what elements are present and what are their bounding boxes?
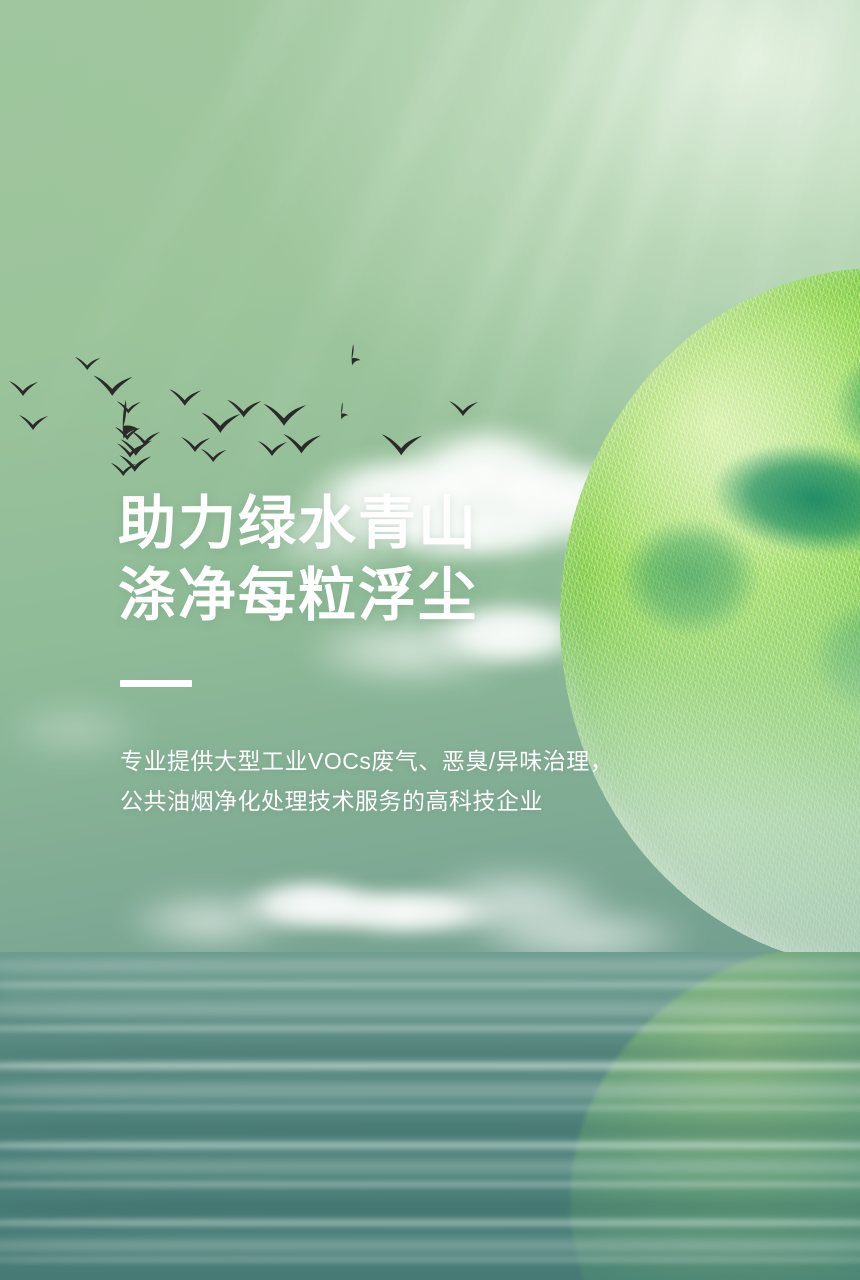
subtitle-line-2: 公共油烟净化处理技术服务的高科技企业 <box>120 781 678 821</box>
headline-divider <box>120 680 192 687</box>
bird-icon <box>338 344 370 366</box>
bird-icon <box>380 430 428 458</box>
bird-icon <box>18 412 52 432</box>
bird-icon <box>110 460 140 478</box>
subtitle-line-1: 专业提供大型工业VOCs废气、恶臭/异味治理， <box>120 741 678 781</box>
bird-icon <box>8 378 42 398</box>
copy-block: 助力绿水青山 涤净每粒浮尘 专业提供大型工业VOCs废气、恶臭/异味治理， 公共… <box>118 488 678 821</box>
headline-line-2: 涤净每粒浮尘 <box>118 560 678 632</box>
water-surface <box>0 952 860 1280</box>
headline-line-1: 助力绿水青山 <box>118 488 678 560</box>
bird-icon <box>282 430 326 456</box>
bird-flock <box>0 0 860 520</box>
eco-poster-banner: 助力绿水青山 涤净每粒浮尘 专业提供大型工业VOCs废气、恶臭/异味治理， 公共… <box>0 0 860 1280</box>
bird-icon <box>330 402 356 420</box>
bird-icon <box>262 398 312 430</box>
bird-icon <box>200 408 246 436</box>
bird-icon <box>448 398 482 418</box>
bird-icon <box>168 386 206 408</box>
bird-icon <box>200 446 230 464</box>
